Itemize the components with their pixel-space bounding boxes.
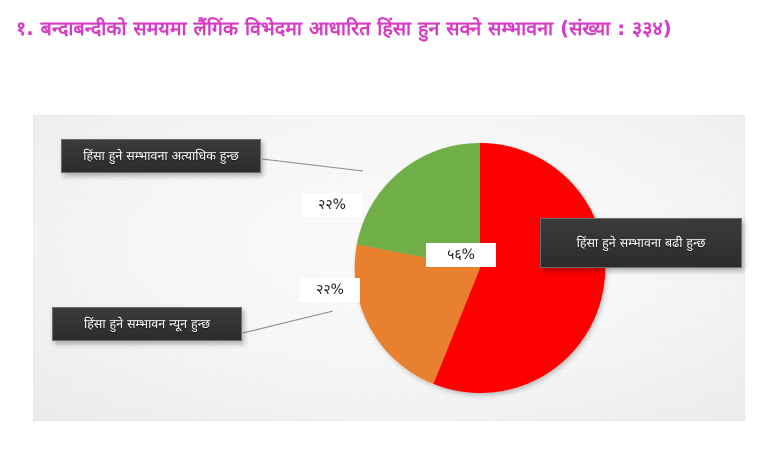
pie-slices	[355, 143, 606, 393]
callout-high-likelihood[interactable]: हिंसा हुने सम्भावना अत्याधिक हुन्छ	[61, 139, 261, 173]
pie-label-high-percent: २२%	[302, 193, 362, 217]
pie-label-more-percent: ५६%	[426, 243, 496, 267]
pie-chart	[355, 143, 605, 393]
pie-label-low-percent: २२%	[300, 278, 360, 302]
chart-panel: २२% २२% ५६% हिंसा हुने सम्भावना अत्याधिक…	[33, 115, 745, 421]
page-title: १. बन्दाबन्दीको समयमा लैंगिंक विभेदमा आध…	[16, 14, 752, 44]
callout-more-likelihood[interactable]: हिंसा हुने सम्भावना बढी हुन्छ	[540, 218, 742, 268]
pie-chart-svg	[355, 143, 605, 393]
callout-low-likelihood[interactable]: हिंसा हुने सम्भावन न्यून हुन्छ	[52, 307, 242, 341]
